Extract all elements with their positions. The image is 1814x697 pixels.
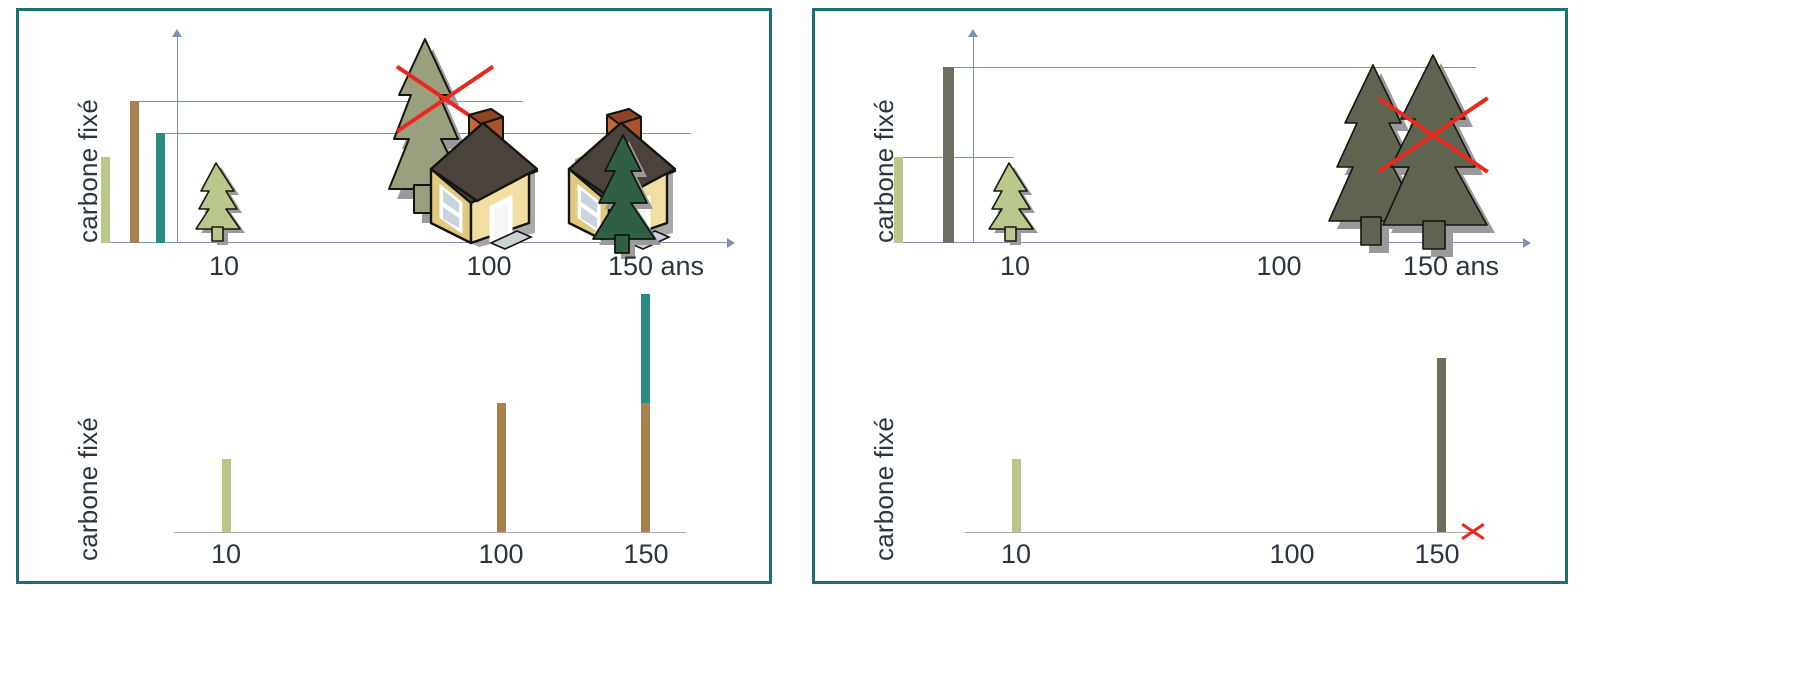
bar-right-bottom-10-green bbox=[1012, 459, 1021, 532]
xtick-right-bottom-100: 100 bbox=[1269, 539, 1314, 570]
dark-green-tree-icon bbox=[585, 129, 675, 259]
red-cross-marker-icon bbox=[1460, 519, 1486, 541]
y-axis-arrow-right-top bbox=[968, 29, 978, 37]
small-green-tree-icon bbox=[194, 159, 260, 249]
y-axis-label-left-top: carbone fixé bbox=[73, 93, 104, 243]
bar-right-top-gray bbox=[943, 67, 954, 243]
y-axis-arrow-left-top bbox=[172, 29, 182, 37]
bar-left-top-teal bbox=[156, 133, 165, 243]
xtick-left-bottom-10: 10 bbox=[211, 539, 241, 570]
bar-right-bottom-150-gray bbox=[1437, 358, 1446, 532]
bar-left-bottom-100-brown bbox=[497, 403, 506, 532]
guide-line-green bbox=[897, 157, 1014, 158]
figure-root: carbone fixé bbox=[0, 0, 1814, 697]
panel-left: carbone fixé bbox=[16, 8, 772, 584]
xtick-right-top-150: 150 ans bbox=[1403, 251, 1499, 282]
x-axis-line-left-bottom bbox=[174, 532, 686, 533]
bar-left-bottom-10-green bbox=[222, 459, 231, 532]
xtick-right-bottom-150: 150 bbox=[1414, 539, 1459, 570]
panel-right: carbone fixé bbox=[812, 8, 1568, 584]
xtick-right-top-100: 100 bbox=[1256, 251, 1301, 282]
bar-left-top-brown bbox=[130, 101, 139, 243]
small-green-tree-icon bbox=[987, 159, 1053, 249]
bar-right-top-light-green bbox=[894, 157, 903, 243]
red-cross-over-dark-trees-icon bbox=[1367, 91, 1499, 175]
house-1-icon bbox=[417, 107, 547, 247]
xtick-left-bottom-100: 100 bbox=[478, 539, 523, 570]
xtick-right-bottom-10: 10 bbox=[1001, 539, 1031, 570]
y-axis-label-left-bottom: carbone fixé bbox=[73, 411, 104, 561]
xtick-left-top-10: 10 bbox=[209, 251, 239, 282]
x-axis-arrow-left-top bbox=[727, 238, 735, 248]
x-axis-line-right-bottom bbox=[965, 532, 1477, 533]
xtick-left-bottom-150: 150 bbox=[623, 539, 668, 570]
xtick-left-top-100: 100 bbox=[466, 251, 511, 282]
bar-left-bottom-150-brown bbox=[641, 403, 650, 532]
bar-left-bottom-150-teal bbox=[641, 294, 650, 403]
bar-left-top-light-green bbox=[101, 157, 110, 243]
xtick-right-top-10: 10 bbox=[1000, 251, 1030, 282]
y-axis-label-right-bottom: carbone fixé bbox=[869, 411, 900, 561]
x-axis-arrow-right-top bbox=[1523, 238, 1531, 248]
y-axis-line-left-top bbox=[177, 35, 178, 243]
xtick-left-top-150: 150 ans bbox=[608, 251, 704, 282]
